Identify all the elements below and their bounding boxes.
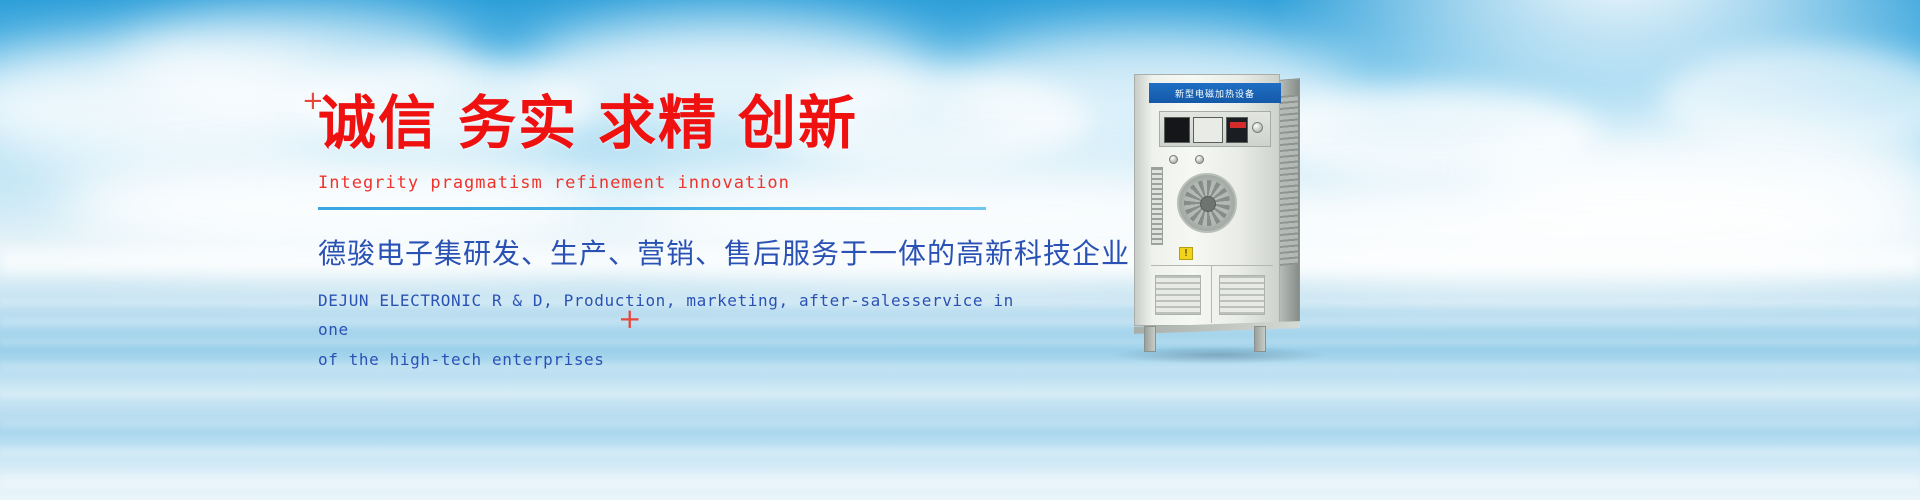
machine-foot — [1144, 326, 1156, 352]
banner-divider — [318, 207, 986, 210]
machine-door-seam — [1211, 265, 1212, 323]
headline-word-3: 求精 — [598, 89, 718, 157]
induction-heating-machine: 新型电磁加热设备 — [1126, 74, 1302, 354]
machine-lower-vent — [1155, 275, 1201, 315]
indicator-light-2 — [1195, 155, 1204, 164]
water-streak — [0, 474, 1920, 488]
banner-description-english: DEJUN ELECTRONIC R & D, Production, mark… — [318, 286, 1018, 375]
machine-label-plate: 新型电磁加热设备 — [1149, 83, 1281, 103]
machine-label-text: 新型电磁加热设备 — [1175, 87, 1255, 100]
cloud-decoration — [1660, 46, 1920, 156]
machine-door-seam — [1151, 265, 1273, 266]
machine-fan-grille — [1177, 173, 1237, 233]
promo-banner: + + 诚信务实求精创新 Integrity pragmatism refine… — [0, 0, 1920, 500]
headline-word-4: 创新 — [738, 89, 858, 157]
banner-headline: 诚信务实求精创新 — [318, 92, 1018, 155]
banner-description-chinese: 德骏电子集研发、生产、营销、售后服务于一体的高新科技企业 — [318, 232, 1018, 272]
water-streak — [0, 418, 1920, 430]
headline-word-2: 务实 — [458, 89, 578, 157]
machine-foot — [1254, 326, 1266, 352]
banner-tagline-english: Integrity pragmatism refinement innovati… — [318, 173, 1018, 193]
control-knob — [1252, 122, 1263, 133]
warning-sticker-icon — [1179, 247, 1193, 260]
cloud-decoration — [1480, 120, 1920, 240]
description-english-line-1: DEJUN ELECTRONIC R & D, Production, mark… — [318, 286, 1018, 345]
machine-lower-vent — [1219, 275, 1265, 315]
machine-vent-strip — [1151, 167, 1163, 245]
digital-display-2 — [1226, 117, 1248, 143]
indicator-light-1 — [1169, 155, 1178, 164]
analog-gauge — [1193, 117, 1223, 143]
digital-display-1 — [1164, 117, 1190, 143]
headline-word-1: 诚信 — [318, 89, 438, 157]
machine-side-louvers — [1280, 94, 1298, 266]
banner-copy: 诚信务实求精创新 Integrity pragmatism refinement… — [318, 92, 1018, 374]
machine-control-panel — [1159, 111, 1271, 147]
water-streak — [0, 392, 1920, 398]
description-english-line-2: of the high-tech enterprises — [318, 345, 1018, 375]
machine-front-panel: 新型电磁加热设备 — [1134, 74, 1280, 326]
water-streak — [0, 448, 1920, 456]
